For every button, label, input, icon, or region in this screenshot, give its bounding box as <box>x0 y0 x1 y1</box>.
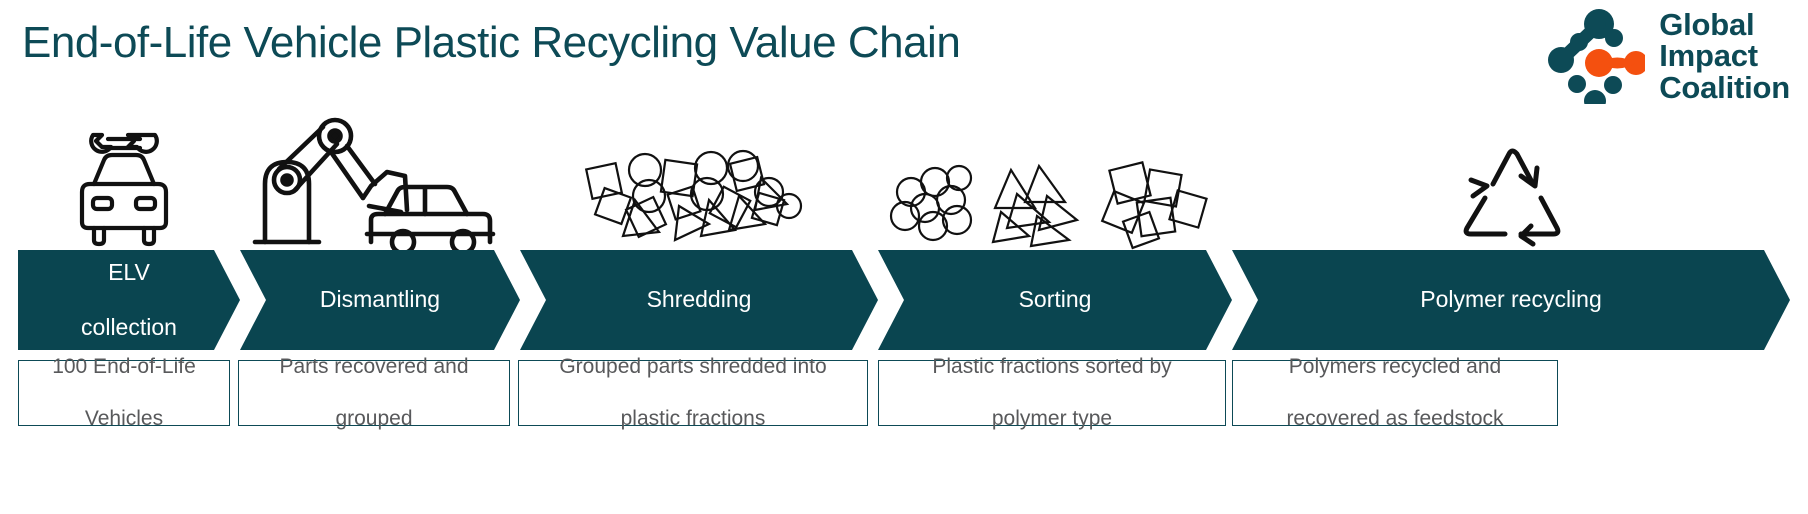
logo: Global Impact Coalition <box>1541 8 1790 104</box>
icon-cell-shredding <box>518 108 878 250</box>
description-box-sorting: Plastic fractions sorted by polymer type <box>878 360 1226 426</box>
description-line1: Grouped parts shredded into <box>549 354 836 380</box>
icon-cell-sorting <box>884 108 1224 250</box>
logo-line-2: Impact <box>1659 40 1790 72</box>
stage-chevron-bar: ELV collection Dismantling Shredding Sor… <box>0 250 1808 350</box>
chevron-stage-sorting[interactable]: Sorting <box>878 250 1232 350</box>
description-line2: polymer type <box>922 406 1181 432</box>
icon-cell-elv-collection <box>18 108 230 250</box>
elv-value-chain-infographic: End-of-Life Vehicle Plastic Recycling Va… <box>0 0 1808 514</box>
description-line1: Polymers recycled and <box>1276 354 1513 380</box>
icon-cell-polymer-recycling <box>1232 108 1792 250</box>
chevron-stage-elv-collection[interactable]: ELV collection <box>18 250 240 350</box>
triangle-group <box>993 166 1077 246</box>
logo-text: Global Impact Coalition <box>1659 9 1790 104</box>
recycling-triangle-icon <box>1437 140 1587 250</box>
logo-line-1: Global <box>1659 9 1790 41</box>
logo-mark-icon <box>1541 8 1645 104</box>
chevron-label-sorting: Sorting <box>993 286 1118 313</box>
chevron-label-polymer-recycling: Polymer recycling <box>1394 286 1628 313</box>
sorted-shape-groups-icon <box>889 150 1219 250</box>
description-line2: plastic fractions <box>549 406 836 432</box>
description-box-polymer-recycling: Polymers recycled and recovered as feeds… <box>1232 360 1558 426</box>
square-group <box>1102 162 1206 248</box>
circle-group <box>891 166 971 240</box>
header: End-of-Life Vehicle Plastic Recycling Va… <box>0 0 1808 110</box>
chevron-label-dismantling: Dismantling <box>294 286 466 313</box>
chevron-label-shredding: Shredding <box>621 286 778 313</box>
description-line2: Vehicles <box>42 406 206 432</box>
description-line1: Parts recovered and <box>269 354 478 380</box>
car-wrench-icon <box>60 116 188 250</box>
page-title: End-of-Life Vehicle Plastic Recycling Va… <box>22 18 960 68</box>
logo-line-3: Coalition <box>1659 72 1790 104</box>
stage-description-row: 100 End-of-Life Vehicles Parts recovered… <box>0 360 1808 428</box>
chevron-stage-dismantling[interactable]: Dismantling <box>240 250 520 350</box>
stage-icons-row <box>0 108 1808 250</box>
icon-cell-dismantling <box>238 108 510 250</box>
description-box-shredding: Grouped parts shredded into plastic frac… <box>518 360 868 426</box>
description-line1: 100 End-of-Life <box>42 354 206 380</box>
chevron-stage-polymer-recycling[interactable]: Polymer recycling <box>1232 250 1790 350</box>
chevron-stage-shredding[interactable]: Shredding <box>520 250 878 350</box>
chevron-label-line1: ELV <box>55 259 203 286</box>
chevron-label-elv-collection: ELV collection <box>29 259 229 340</box>
description-line2: recovered as feedstock <box>1276 406 1513 432</box>
description-line2: grouped <box>269 406 478 432</box>
robot-arm-car-icon <box>251 114 497 250</box>
chevron-label-line2: collection <box>55 314 203 341</box>
description-line1: Plastic fractions sorted by <box>922 354 1181 380</box>
description-box-elv-collection: 100 End-of-Life Vehicles <box>18 360 230 426</box>
description-box-dismantling: Parts recovered and grouped <box>238 360 510 426</box>
mixed-shapes-icon <box>583 140 813 250</box>
